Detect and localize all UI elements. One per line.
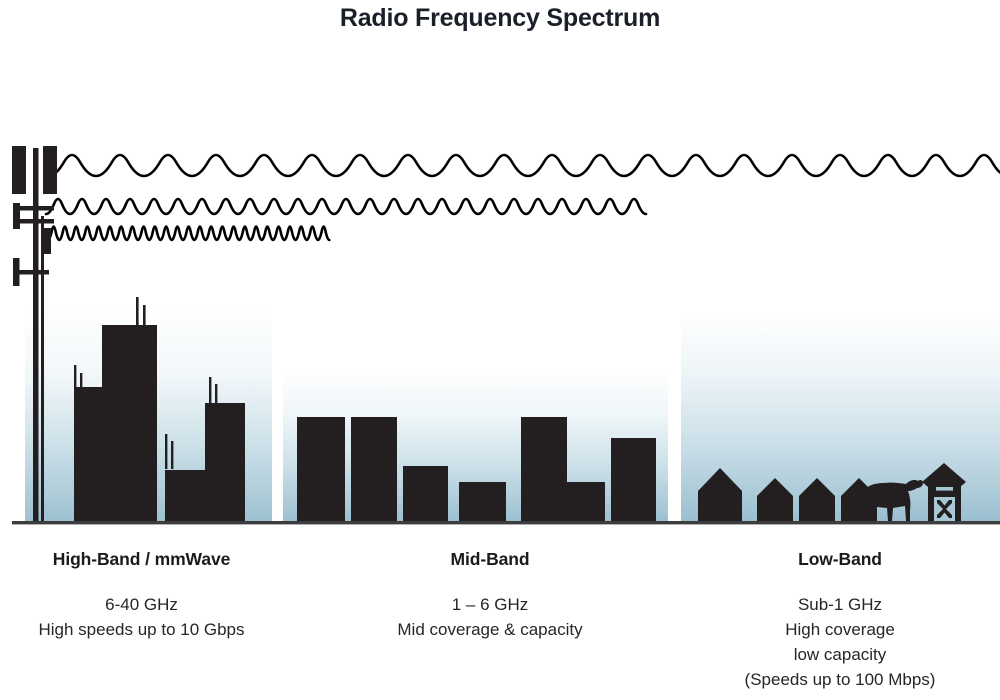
band-detail-line: 1 – 6 GHz [290,592,690,617]
skyscraper-spire [136,297,139,327]
radio-waves [46,155,1000,240]
midrise-building [403,466,448,521]
midrise-building [521,417,567,521]
band-label-high-band: High-Band / mmWave [0,549,283,570]
band-detail-low-band: Sub-1 GHz High coverage low capacity (Sp… [680,592,1000,692]
tower-antenna-panel-top-right [43,146,57,194]
skyscraper-spire [209,377,211,404]
tower-mast [33,148,39,522]
low-band-wave [48,155,1000,176]
skyscraper-spire [171,441,173,469]
skyscraper-building [165,470,205,521]
band-detail-line: Sub-1 GHz [680,592,1000,617]
tower-antenna-panel-top-left [12,146,26,194]
barn-hayloft-window [936,487,953,491]
infographic-canvas: Radio Frequency Spectrum [0,0,1000,700]
band-detail-line: High coverage [680,617,1000,642]
tower-antenna-panel-bottom [13,258,20,286]
band-detail-line: 6-40 GHz [0,592,283,617]
skyscraper-spire [215,384,217,404]
band-detail-line: Mid coverage & capacity [290,617,690,642]
band-label-mid-band: Mid-Band [290,549,690,570]
skyscraper-spire [143,305,146,327]
tower-mast-secondary [41,216,44,522]
midrise-building [611,438,656,521]
midrise-building [459,482,506,521]
skyscraper-building [74,387,102,521]
skyscraper-building [205,403,245,521]
ground-line [12,521,1000,524]
tower-antenna-panel-mid [13,203,20,229]
midrise-building [351,417,397,521]
band-detail-high-band: 6-40 GHz High speeds up to 10 Gbps [0,592,283,642]
band-detail-line: low capacity [680,642,1000,667]
tower-antenna-panel-low [44,228,51,254]
band-detail-line: High speeds up to 10 Gbps [0,617,283,642]
tower-crossbar-upper [20,206,54,211]
midrise-building [297,417,345,521]
tower-crossbar-lower [19,270,49,275]
skyscraper-spire [165,434,167,469]
band-detail-line: (Speeds up to 100 Mbps) [680,667,1000,692]
band-label-low-band: Low-Band [680,549,1000,570]
band-detail-mid-band: 1 – 6 GHz Mid coverage & capacity [290,592,690,642]
midrise-building [567,482,605,521]
skyscraper-building [102,325,157,521]
high-band-wave [48,227,329,241]
tower-crossbar-upper-2 [20,219,54,224]
mid-band-wave [46,199,646,214]
